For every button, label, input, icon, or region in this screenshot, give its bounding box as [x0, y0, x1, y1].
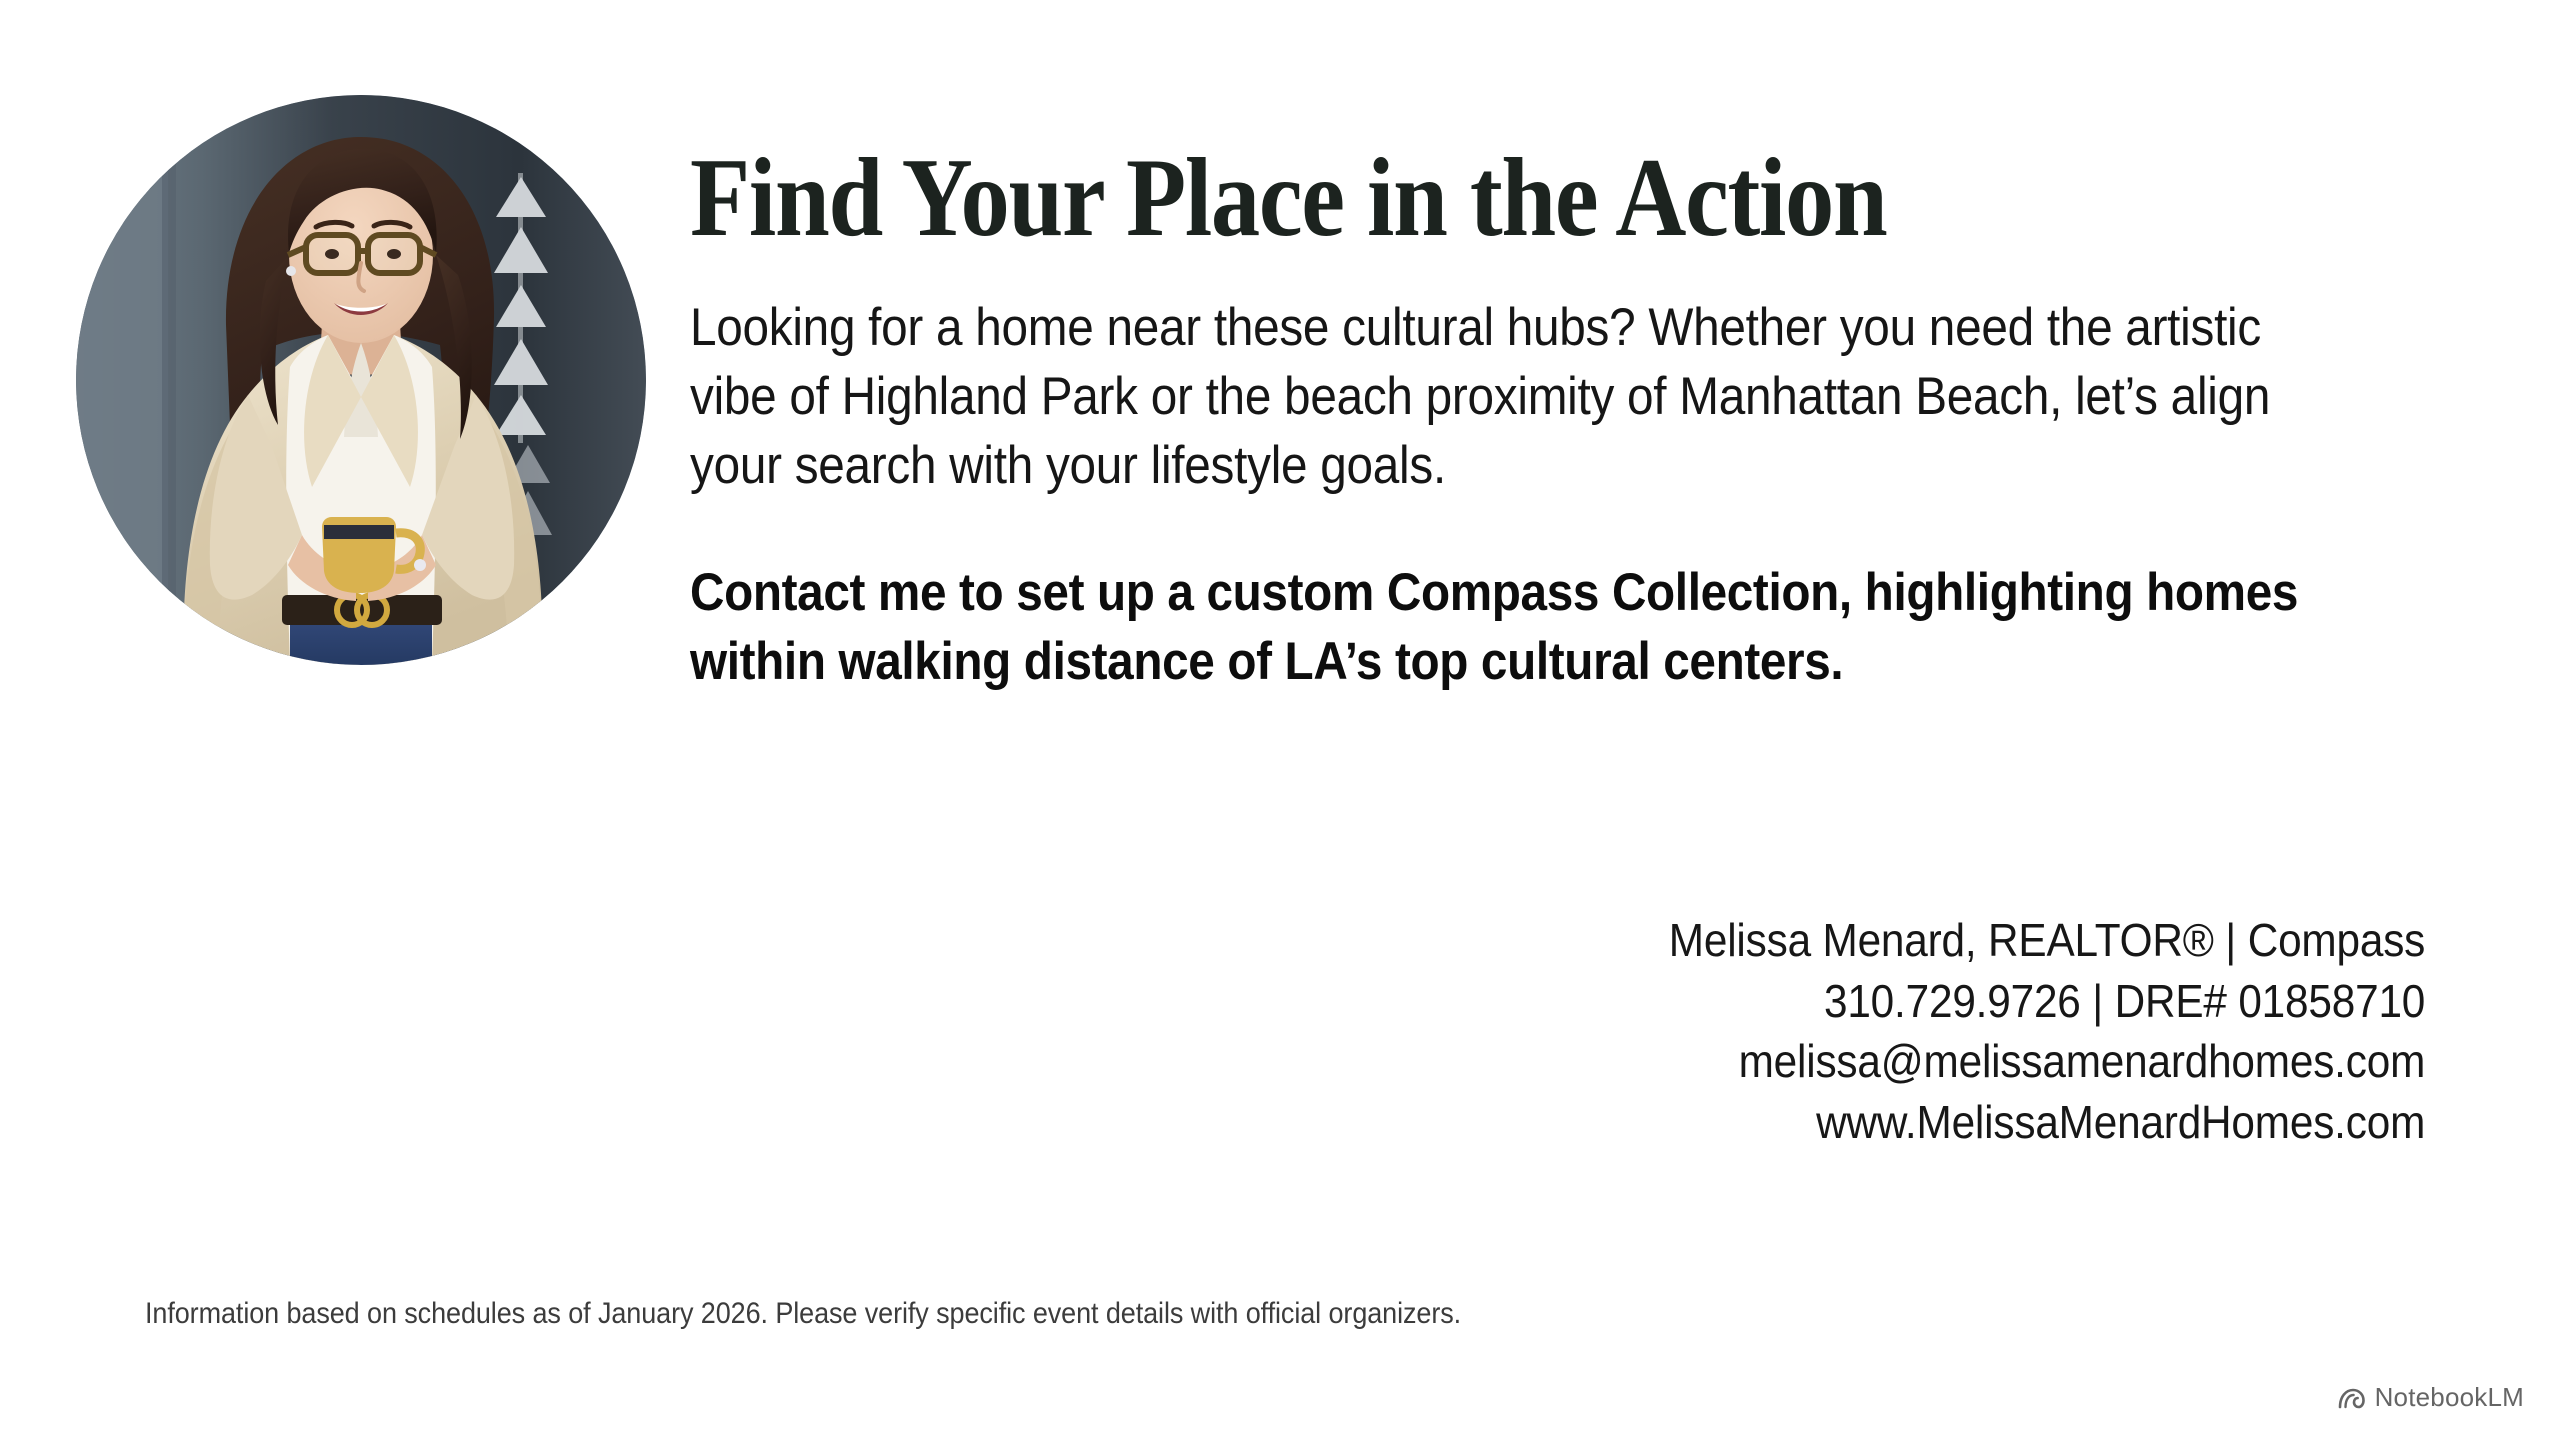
contact-website[interactable]: www.MelissaMenardHomes.com: [1669, 1092, 2425, 1153]
agent-portrait-photo: [76, 95, 646, 665]
slide-canvas: Find Your Place in the Action Looking fo…: [0, 0, 2560, 1429]
page-title: Find Your Place in the Action: [690, 140, 2133, 256]
portrait-illustration: [76, 95, 646, 665]
disclaimer-footnote: Information based on schedules as of Jan…: [145, 1294, 1461, 1333]
call-to-action-paragraph: Contact me to set up a custom Compass Co…: [690, 559, 2328, 697]
content-column: Find Your Place in the Action Looking fo…: [690, 140, 2330, 697]
contact-email[interactable]: melissa@melissamenardhomes.com: [1669, 1031, 2425, 1092]
notebooklm-watermark: NotebookLM: [2338, 1382, 2524, 1413]
body-block: Looking for a home near these cultural h…: [690, 294, 2330, 696]
contact-name-brokerage: Melissa Menard, REALTOR® | Compass: [1669, 910, 2425, 971]
intro-paragraph: Looking for a home near these cultural h…: [690, 294, 2328, 501]
notebooklm-spiral-icon: [2338, 1386, 2366, 1410]
contact-phone-dre: 310.729.9726 | DRE# 01858710: [1669, 971, 2425, 1032]
contact-block: Melissa Menard, REALTOR® | Compass 310.7…: [1669, 910, 2425, 1153]
notebooklm-label: NotebookLM: [2375, 1382, 2524, 1413]
